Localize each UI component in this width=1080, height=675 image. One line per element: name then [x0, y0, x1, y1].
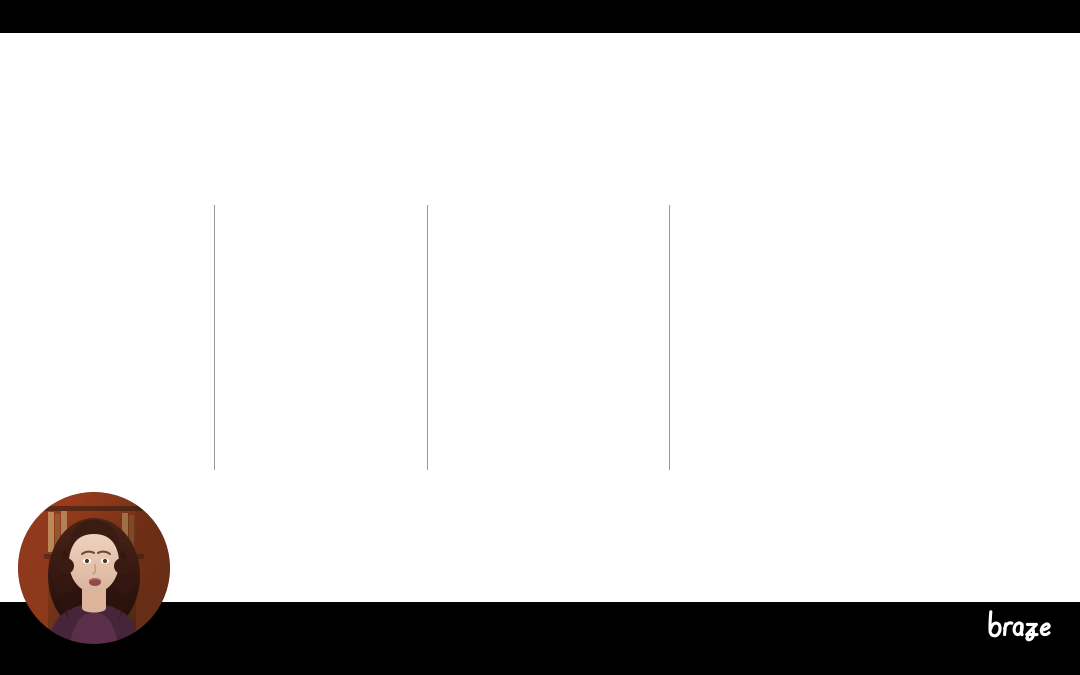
- letterbox-bar-top: [0, 0, 1080, 33]
- column-divider-2: [427, 205, 428, 470]
- slide-canvas: [0, 33, 1080, 602]
- presenter-webcam-bubble[interactable]: [18, 492, 170, 644]
- column-divider-1: [214, 205, 215, 470]
- presentation-slide: User Journeys Before we can visualize ou…: [0, 0, 1080, 675]
- letterbox-bar-bottom: [0, 602, 1080, 675]
- column-divider-3: [669, 205, 670, 470]
- braze-logo: [986, 608, 1058, 642]
